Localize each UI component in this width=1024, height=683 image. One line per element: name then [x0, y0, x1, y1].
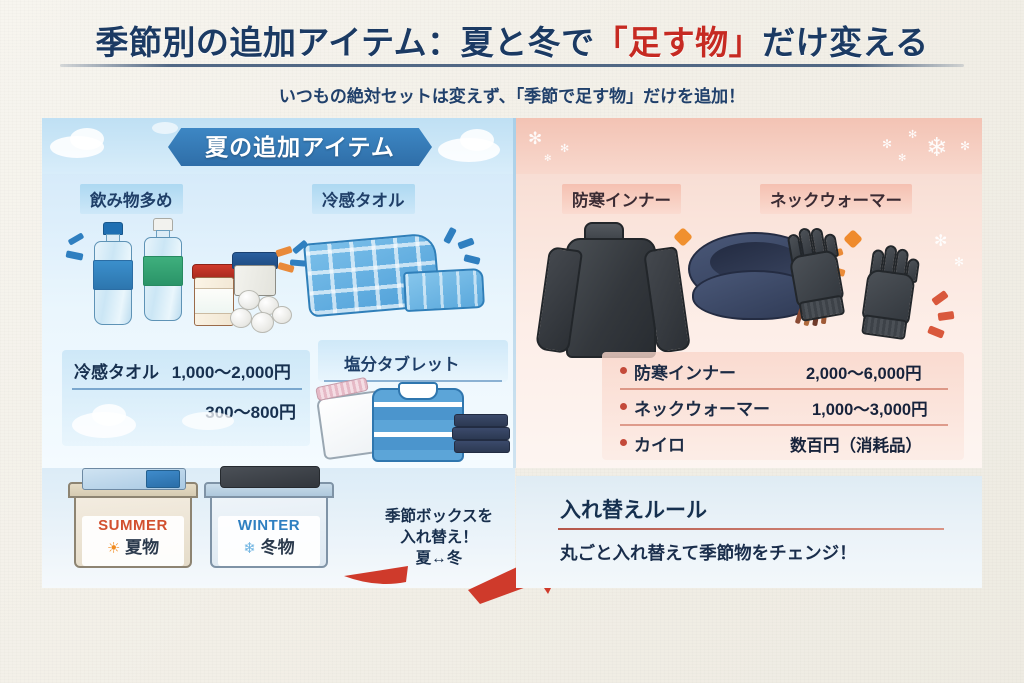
- sparkle-icon: [457, 237, 474, 249]
- winter-box-tag: WINTER ❄ 冬物: [218, 516, 320, 566]
- summer-box-jp-row: ☀ 夏物: [82, 536, 184, 561]
- gloves-illustration: ✻ ✻: [772, 228, 972, 348]
- cloud-icon: [460, 129, 494, 151]
- snowflake-icon: ✻: [960, 140, 970, 152]
- title-divider: [60, 64, 964, 67]
- drinks-illustration: [66, 218, 296, 338]
- bullet-icon: [620, 439, 627, 446]
- winter-box-en: WINTER: [218, 516, 320, 536]
- winter-price-box: 防寒インナー 2,000〜6,000円 ネックウォーマー 1,000〜3,000…: [602, 352, 964, 460]
- snowflake-icon: ✻: [528, 130, 542, 147]
- swap-rule-box: 入れ替えルール 丸ごと入れ替えて季節物をチェンジ！: [516, 476, 982, 588]
- sparkle-icon: [275, 246, 292, 258]
- winter-box-jp: 冬物: [261, 538, 295, 557]
- folded-clothes-icon: [454, 414, 508, 427]
- summer-panel: 夏の追加アイテム 飲み物多め 冷感タオル: [42, 118, 515, 468]
- salt-tablet-label: 塩分タブレット: [334, 348, 470, 378]
- sparkle-icon: [68, 232, 85, 245]
- sparkle-icon: [463, 254, 480, 265]
- winter-label-neckwarmer: ネックウォーマー: [760, 184, 912, 214]
- summer-banner: 夏の追加アイテム: [168, 128, 432, 166]
- winter-price-row: カイロ 数百円（消耗品）: [620, 426, 954, 460]
- swap-line-2: 入れ替え！: [348, 527, 530, 548]
- cloud-icon: [182, 412, 234, 430]
- salt-tablet-icon: [230, 308, 252, 328]
- salt-jar-icon: [232, 252, 278, 296]
- snowflake-icon: ❄: [926, 134, 948, 160]
- winter-price-value: 数百円（消耗品）: [790, 432, 922, 456]
- bullet-icon: [620, 367, 627, 374]
- snowflake-icon: ✻: [954, 256, 964, 268]
- diamond-sparkle-icon: [673, 227, 693, 247]
- snowflake-icon: ✻: [882, 138, 892, 150]
- winter-storage-box: WINTER ❄ 冬物: [204, 482, 334, 568]
- cooling-towel-illustration: [292, 222, 502, 338]
- winter-price-value: 1,000〜3,000円: [812, 396, 928, 420]
- title-pre: 季節別の追加アイテム：夏と冬で: [95, 24, 594, 61]
- bullet-icon: [620, 403, 627, 410]
- title-post: だけ変える: [762, 24, 929, 61]
- summer-box-en: SUMMER: [82, 516, 184, 536]
- summer-box-jp: 夏物: [125, 538, 159, 557]
- summer-price-name-1: 冷感タオル: [74, 363, 159, 382]
- winter-price-name: ネックウォーマー: [634, 395, 770, 420]
- sparkle-icon: [290, 259, 306, 266]
- sparkle-icon: [927, 325, 945, 338]
- sparkle-icon: [938, 311, 955, 321]
- sparkle-icon: [65, 250, 83, 260]
- winter-price-row: 防寒インナー 2,000〜6,000円: [620, 354, 954, 388]
- snowflake-icon: ✻: [908, 130, 917, 141]
- arrow-left-icon: [344, 566, 408, 584]
- snowflake-icon: ✻: [934, 234, 947, 250]
- winter-price-name: 防寒インナー: [634, 359, 736, 384]
- box-contents-winter: [220, 466, 320, 488]
- winter-box-jp-row: ❄ 冬物: [218, 536, 320, 561]
- diamond-sparkle-icon: [843, 229, 863, 249]
- rule-text: 丸ごと入れ替えて季節物をチェンジ！: [560, 540, 857, 565]
- towel-icon: [403, 268, 485, 312]
- snowflake-icon: ✻: [898, 154, 906, 164]
- winter-price-row: ネックウォーマー 1,000〜3,000円: [620, 390, 954, 424]
- swap-line-1: 季節ボックスを: [348, 506, 530, 527]
- winter-header-band: [516, 118, 982, 174]
- shirts-illustration: [314, 380, 514, 468]
- snowflake-icon: ✻: [544, 154, 552, 163]
- summer-price-value-1: 1,000〜2,000円: [172, 363, 291, 382]
- folded-clothes-icon: [454, 440, 510, 453]
- winter-panel: ✻ ✻ ✻ ✻ ✻ ❄ ✻ ✻ 冬の追加アイテム 防寒インナー ネックウォーマー: [516, 118, 982, 468]
- sparkle-icon: [931, 290, 949, 306]
- summer-label-drinks: 飲み物多め: [80, 184, 183, 214]
- snowflake-icon: ✻: [560, 144, 569, 155]
- sparkle-icon: [443, 227, 457, 244]
- summer-label-towel: 冷感タオル: [312, 184, 415, 214]
- infographic-stage: 季節別の追加アイテム：夏と冬で「足す物」だけ変える いつもの絶対セットは変えず、…: [0, 0, 1024, 683]
- salt-tablet-icon: [251, 312, 274, 333]
- salt-tablet-box: 塩分タブレット: [318, 340, 508, 382]
- summer-price-row-1: 冷感タオル 1,000〜2,000円: [74, 358, 291, 383]
- winter-price-value: 2,000〜6,000円: [806, 360, 922, 384]
- cloud-icon: [152, 122, 178, 134]
- cloud-icon: [70, 128, 104, 150]
- summer-storage-box: SUMMER ☀ 夏物: [68, 482, 198, 568]
- rule-title: 入れ替えルール: [560, 494, 707, 524]
- salt-tablet-icon: [272, 306, 292, 324]
- snowflake-icon: ❄: [243, 540, 256, 557]
- salt-tablet-icon: [238, 290, 260, 310]
- box-contents-summer: [146, 470, 180, 488]
- summer-box-tag: SUMMER ☀ 夏物: [82, 516, 184, 566]
- summer-price-box: 冷感タオル 1,000〜2,000円 300〜800円: [62, 350, 310, 446]
- thermal-inner-illustration: [544, 222, 684, 354]
- folded-clothes-icon: [452, 427, 510, 440]
- rule-divider: [558, 528, 944, 530]
- page-subtitle: いつもの絶対セットは変えず、「季節で足す物」だけを追加！: [0, 82, 1024, 107]
- winter-price-name: カイロ: [634, 431, 685, 456]
- sun-icon: ☀: [107, 540, 120, 557]
- polo-collar-icon: [398, 382, 438, 400]
- cloud-icon: [92, 404, 126, 426]
- page-title: 季節別の追加アイテム：夏と冬で「足す物」だけ変える: [0, 16, 1024, 64]
- title-accent: 「足す物」: [595, 24, 763, 61]
- winter-label-inner: 防寒インナー: [562, 184, 681, 214]
- summer-price-divider: [72, 388, 302, 390]
